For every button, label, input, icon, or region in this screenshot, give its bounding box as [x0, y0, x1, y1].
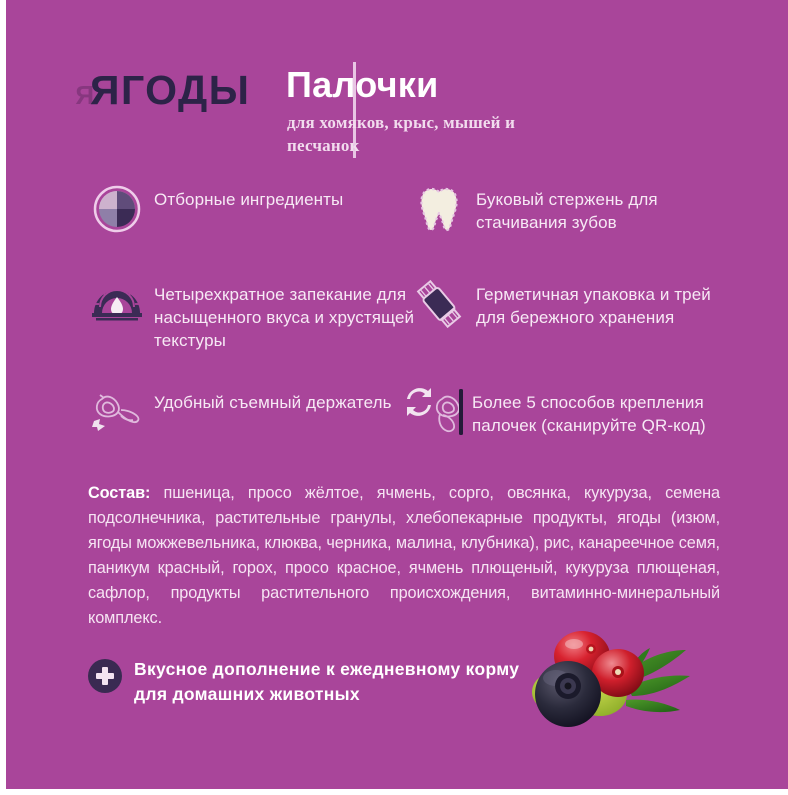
product-title: Палочки [286, 66, 439, 104]
refresh-holder-icon [406, 383, 464, 441]
feature-item-mounting: Более 5 способов крепления палочек (скан… [406, 383, 736, 441]
plus-badge-icon [88, 659, 122, 693]
feature-item-baking: Четырехкратное запекание для насыщенного… [88, 275, 418, 353]
composition-text: пшеница, просо жёлтое, ячмень, сорго, ов… [88, 484, 720, 627]
composition-paragraph: Состав: пшеница, просо жёлтое, ячмень, с… [88, 481, 720, 631]
sealed-package-icon [410, 275, 468, 333]
brand-title: ЯГОДЫ [90, 70, 250, 111]
feature-label: Отборные ингредиенты [154, 180, 343, 212]
quadrant-circle-icon [88, 180, 146, 238]
footnote: Вкусное дополнение к ежедневному корму д… [88, 655, 528, 707]
feature-label: Более 5 способов крепления палочек (скан… [472, 383, 736, 438]
feature-label: Буковый стержень для стачивания зубов [476, 180, 740, 235]
feature-item-ingredients: Отборные ингредиенты [88, 180, 418, 238]
feature-label: Удобный съемный держатель [154, 383, 392, 415]
feature-label: Четырехкратное запекание для насыщенного… [154, 275, 418, 353]
footnote-label: Вкусное дополнение к ежедневному корму д… [134, 655, 528, 707]
feature-label: Герметичная упаковка и трей для бережног… [476, 275, 740, 330]
feature-item-packaging: Герметичная упаковка и трей для бережног… [410, 275, 740, 333]
oven-icon [88, 275, 146, 333]
header: ЯГОДЫ Палочки для хомяков, крыс, мышей и… [90, 62, 710, 167]
feature-list: Отборные ингредиенты Буковый стержень дл… [88, 180, 728, 470]
berries-image [508, 628, 708, 738]
holder-clip-icon [88, 383, 146, 441]
tooth-icon [410, 180, 468, 238]
feature-item-holder: Удобный съемный держатель [88, 383, 418, 441]
feature-item-beech-rod: Буковый стержень для стачивания зубов [410, 180, 740, 238]
poster-canvas: Я ЯГОДЫ Палочки для хомяков, крыс, мышей… [0, 0, 788, 795]
composition-label: Состав: [88, 484, 150, 502]
product-subtitle: для хомяков, крыс, мышей и песчанок [287, 112, 587, 158]
